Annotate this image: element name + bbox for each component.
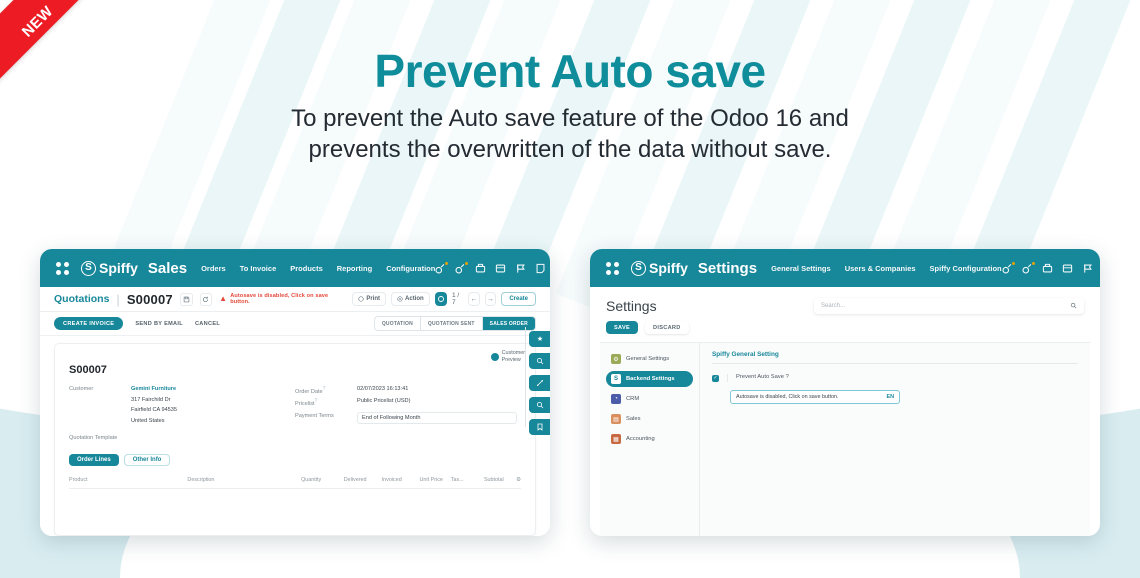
pricelist-value: Public Pricelist (USD)	[357, 397, 410, 405]
settings-header: Settings Search...	[590, 287, 1100, 314]
customer-preview-label: Customer Preview	[502, 350, 525, 364]
customer-preview-line2: Preview	[502, 357, 525, 364]
sales-form-sheet: Customer Preview S00007 Customer Gemini …	[54, 343, 536, 536]
field-address-3: United States	[69, 417, 295, 425]
notebook-tabs: Order Lines Other Info	[69, 454, 521, 466]
column-delivered: Delivered	[344, 477, 382, 483]
column-product: Product	[69, 477, 187, 483]
flag-icon[interactable]	[1082, 263, 1093, 274]
send-by-email-button[interactable]: SEND BY EMAIL	[135, 321, 183, 327]
tab-other-info[interactable]: Other Info	[124, 454, 171, 466]
save-button[interactable]: SAVE	[606, 321, 638, 334]
field-payment-terms: Payment Terms End of Following Month	[295, 412, 521, 424]
pager-next-button[interactable]: →	[485, 292, 497, 306]
menu-item-to-invoice[interactable]: To Invoice	[240, 264, 277, 273]
sidebar-label-accounting: Accounting	[626, 436, 655, 442]
save-icon[interactable]	[180, 293, 193, 306]
spiffy-logo-icon	[631, 261, 646, 276]
autosave-warning: ▲ Autosave is disabled, Click on save bu…	[219, 293, 345, 305]
quotation-template-label: Quotation Template	[69, 434, 117, 441]
crm-icon: ◔	[611, 394, 621, 404]
status-quotation[interactable]: QUOTATION	[375, 317, 421, 330]
customer-preview-line1: Customer	[502, 350, 525, 357]
tab-order-lines[interactable]: Order Lines	[69, 454, 119, 466]
menu-item-reporting[interactable]: Reporting	[337, 264, 372, 273]
column-description: Description	[187, 477, 301, 483]
breadcrumb-current: S00007	[127, 292, 173, 307]
action-button[interactable]: Action	[391, 292, 430, 306]
form-right-column: Order Date? 02/07/2023 16:13:41 Pricelis…	[295, 385, 521, 443]
pager-previous-button[interactable]: ←	[468, 292, 480, 306]
address-line-1: 317 Fairchild Dr	[131, 396, 170, 404]
star-icon[interactable]: ★	[529, 331, 550, 347]
control-panel-actions: Print Action 1 / 7 ← → Create	[352, 292, 536, 306]
bookmark-icon[interactable]	[529, 419, 550, 435]
flag-icon[interactable]	[515, 263, 526, 274]
autosave-message-value: Autosave is disabled, Click on save butt…	[736, 394, 838, 400]
create-invoice-button[interactable]: CREATE INVOICE	[54, 317, 123, 330]
menu-item-products[interactable]: Products	[290, 264, 323, 273]
sales-control-panel: Quotations | S00007 ▲ Autosave is disabl…	[40, 287, 550, 312]
column-quantity: Quantity	[301, 477, 344, 483]
sales-menu: Orders To Invoice Products Reporting Con…	[201, 264, 435, 273]
sales-icon: ▤	[611, 414, 621, 424]
prevent-auto-save-label: Prevent Auto Save ?	[736, 374, 789, 380]
apps-grid-icon[interactable]	[606, 262, 619, 275]
sidebar-label-backend-settings: Backend Settings	[626, 376, 675, 382]
note-icon[interactable]	[535, 263, 546, 274]
pager-count: 1 / 7	[452, 292, 463, 306]
column-options-icon[interactable]: ⚙	[516, 477, 521, 483]
sales-topbar-icons	[435, 260, 550, 277]
create-button[interactable]: Create	[501, 292, 536, 306]
sidebar-item-sales[interactable]: ▤ Sales	[606, 411, 693, 427]
field-pricelist: Pricelist? Public Pricelist (USD)	[295, 397, 521, 407]
record-title: S00007	[69, 364, 521, 376]
grid-icon[interactable]	[495, 263, 506, 274]
search-placeholder: Search...	[821, 303, 845, 309]
autosave-warning-text: Autosave is disabled, Click on save butt…	[230, 293, 345, 305]
field-address-1: 317 Fairchild Dr	[69, 396, 295, 404]
column-subtotal: Subtotal	[484, 477, 516, 483]
settings-main-panel: Spiffy General Setting Prevent Auto Save…	[700, 343, 1090, 536]
sidebar-item-accounting[interactable]: ▦ Accounting	[606, 431, 693, 447]
sales-status-row: CREATE INVOICE SEND BY EMAIL CANCEL QUOT…	[40, 312, 550, 336]
menu-item-spiffy-configuration[interactable]: Spiffy Configuration	[930, 264, 1002, 273]
form-fields: Customer Gemini Furniture 317 Fairchild …	[69, 385, 521, 443]
address-line-2: Fairfield CA 94535	[131, 406, 177, 414]
settings-body: ⚙ General Settings S Backend Settings ◔ …	[600, 342, 1090, 536]
order-date-label: Order Date?	[295, 385, 357, 395]
form-left-column: Customer Gemini Furniture 317 Fairchild …	[69, 385, 295, 443]
brand-name: Spiffy	[99, 260, 138, 276]
column-unit-price: Unit Price	[420, 477, 451, 483]
cancel-button[interactable]: CANCEL	[195, 321, 220, 327]
expand-icon[interactable]	[529, 375, 550, 391]
messages-icon[interactable]	[435, 263, 446, 274]
customer-label: Customer	[69, 385, 131, 392]
warning-triangle-icon: ▲	[219, 295, 227, 303]
sales-side-rail: ★	[529, 331, 550, 435]
order-date-value: 02/07/2023 16:13:41	[357, 385, 408, 393]
brand-logo[interactable]: Spiffy	[81, 260, 138, 276]
customer-value[interactable]: Gemini Furniture	[131, 385, 176, 393]
sales-topbar: Spiffy Sales Orders To Invoice Products …	[40, 249, 550, 287]
globe-icon	[491, 353, 499, 361]
settings-page-title: Settings	[606, 298, 657, 314]
pricelist-label: Pricelist?	[295, 397, 357, 407]
payment-terms-input[interactable]: End of Following Month	[357, 412, 517, 424]
prevent-auto-save-row: Prevent Auto Save ?	[712, 374, 1078, 382]
order-lines-header: Product Description Quantity Delivered I…	[69, 477, 521, 489]
print-label: Print	[366, 296, 380, 302]
brand-logo[interactable]: Spiffy	[631, 260, 688, 276]
address-line-3: United States	[131, 417, 165, 425]
zoom-icon[interactable]	[529, 397, 550, 413]
row-divider	[727, 374, 728, 382]
discard-button[interactable]: DISCARD	[645, 321, 689, 334]
spiffy-logo-icon	[81, 261, 96, 276]
discard-icon[interactable]	[200, 293, 213, 306]
sidebar-label-general-settings: General Settings	[626, 356, 669, 362]
settings-menu: General Settings Users & Companies Spiff…	[771, 264, 1002, 273]
gear-icon: ⚙	[611, 354, 621, 364]
column-invoiced: Invoiced	[382, 477, 420, 483]
settings-screenshot-window: Spiffy Settings General Settings Users &…	[590, 249, 1100, 536]
field-quotation-template: Quotation Template	[69, 434, 295, 441]
print-icon[interactable]	[1042, 263, 1053, 274]
sidebar-item-crm[interactable]: ◔ CRM	[606, 391, 693, 407]
menu-item-users-companies[interactable]: Users & Companies	[845, 264, 916, 273]
activities-icon[interactable]	[1022, 263, 1033, 274]
app-name: Settings	[698, 260, 757, 277]
page-subtitle: To prevent the Auto save feature of the …	[0, 104, 1140, 165]
menu-item-general-settings[interactable]: General Settings	[771, 264, 831, 273]
activities-icon[interactable]	[455, 263, 466, 274]
menu-item-orders[interactable]: Orders	[201, 264, 226, 273]
section-title: Spiffy General Setting	[712, 351, 1078, 364]
grid-icon[interactable]	[1062, 263, 1073, 274]
messages-icon[interactable]	[1002, 263, 1013, 274]
breadcrumb-root[interactable]: Quotations	[54, 293, 109, 305]
breadcrumb-separator: |	[116, 292, 119, 307]
settings-actions: SAVE DISCARD	[590, 314, 1100, 342]
spiffy-icon: S	[611, 374, 621, 384]
field-address-2: Fairfield CA 94535	[69, 406, 295, 414]
settings-topbar-icons	[1002, 260, 1100, 277]
page-title: Prevent Auto save	[0, 44, 1140, 98]
print-icon[interactable]	[475, 263, 486, 274]
column-tax: Tax...	[451, 477, 484, 483]
apps-grid-icon[interactable]	[56, 262, 69, 275]
field-order-date: Order Date? 02/07/2023 16:13:41	[295, 385, 521, 395]
autosave-message-input[interactable]: Autosave is disabled, Click on save butt…	[730, 390, 900, 404]
subtitle-line-2: prevents the overwritten of the data wit…	[0, 135, 1140, 166]
subtitle-line-1: To prevent the Auto save feature of the …	[0, 104, 1140, 135]
search-input[interactable]: Search...	[814, 298, 1084, 314]
poster-canvas: NEW Prevent Auto save To prevent the Aut…	[0, 0, 1140, 578]
search-icon[interactable]	[529, 353, 550, 369]
print-button[interactable]: Print	[352, 292, 386, 306]
brand-name: Spiffy	[649, 260, 688, 276]
payment-terms-label: Payment Terms	[295, 412, 357, 419]
sidebar-item-backend-settings[interactable]: S Backend Settings	[606, 371, 693, 387]
sales-screenshot-window: Spiffy Sales Orders To Invoice Products …	[40, 249, 550, 536]
search-icon[interactable]	[1070, 302, 1077, 311]
sidebar-label-crm: CRM	[626, 396, 639, 402]
prevent-auto-save-checkbox[interactable]	[712, 375, 719, 382]
language-badge[interactable]: EN	[887, 394, 895, 400]
status-sales-order[interactable]: SALES ORDER	[483, 317, 535, 330]
app-name: Sales	[148, 260, 187, 277]
field-customer: Customer Gemini Furniture	[69, 385, 295, 393]
status-quotation-sent[interactable]: QUOTATION SENT	[421, 317, 483, 330]
customer-preview-button[interactable]: Customer Preview	[491, 350, 525, 364]
settings-topbar: Spiffy Settings General Settings Users &…	[590, 249, 1100, 287]
accounting-icon: ▦	[611, 434, 621, 444]
sidebar-label-sales: Sales	[626, 416, 641, 422]
action-label: Action	[405, 296, 424, 302]
sales-sheet-wrap: Customer Preview S00007 Customer Gemini …	[40, 336, 550, 536]
rail-divider	[525, 327, 526, 427]
view-toggle-button[interactable]	[435, 292, 447, 306]
status-bar: QUOTATION QUOTATION SENT SALES ORDER	[374, 316, 536, 331]
sidebar-item-general-settings[interactable]: ⚙ General Settings	[606, 351, 693, 367]
settings-sidebar: ⚙ General Settings S Backend Settings ◔ …	[600, 343, 700, 536]
menu-item-configuration[interactable]: Configuration	[386, 264, 435, 273]
